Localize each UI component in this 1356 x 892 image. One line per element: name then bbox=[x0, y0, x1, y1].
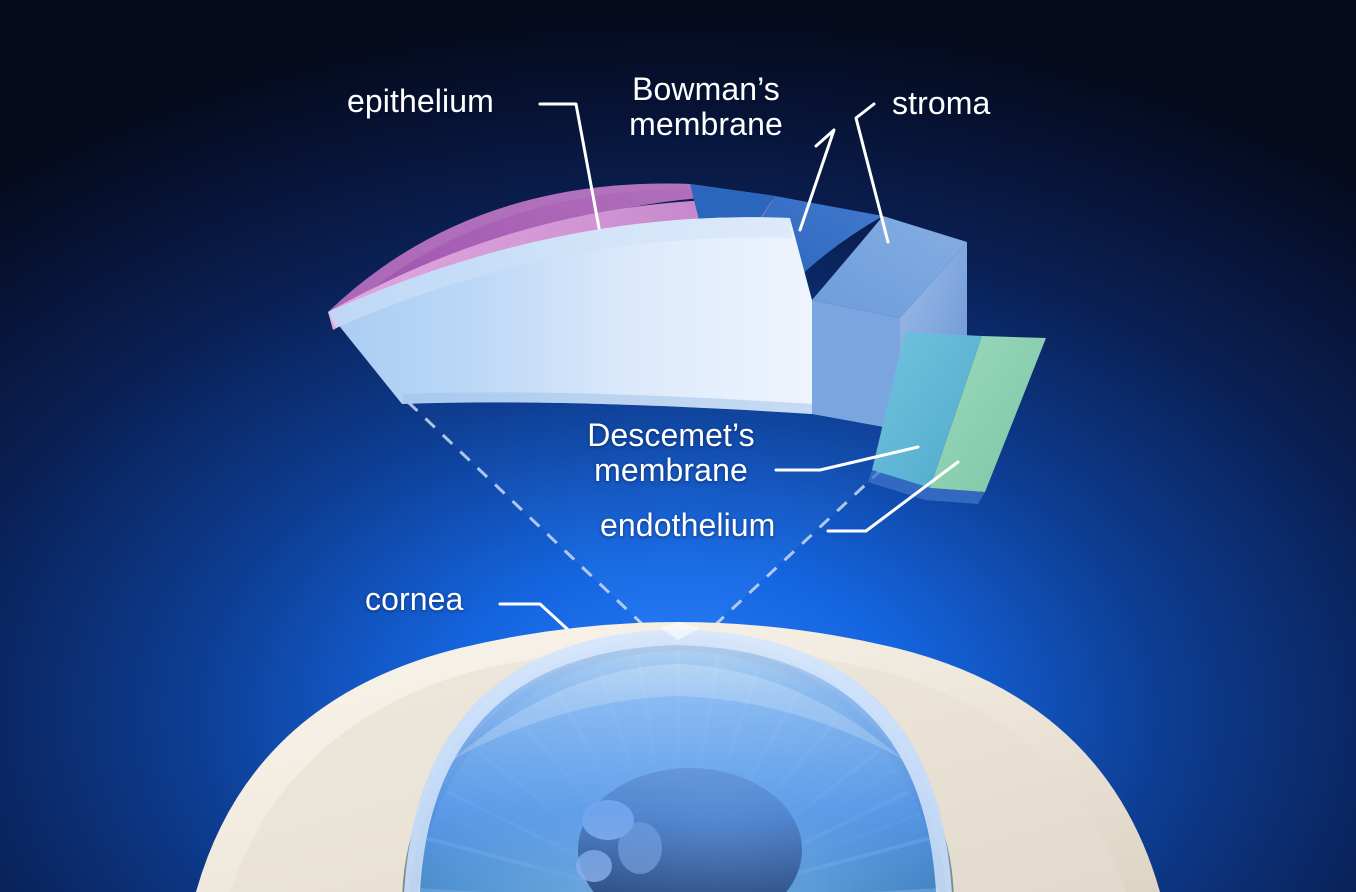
label-descemets-line2: membrane bbox=[594, 452, 748, 488]
label-descemets-membrane: Descemet’s membrane bbox=[573, 418, 769, 488]
label-descemets-line1: Descemet’s bbox=[587, 417, 755, 453]
label-endothelium: endothelium bbox=[600, 508, 775, 543]
label-bowmans-line2: membrane bbox=[629, 106, 783, 142]
label-bowmans-line1: Bowman’s bbox=[632, 71, 780, 107]
diagram-canvas: epithelium Bowman’s membrane stroma Desc… bbox=[0, 0, 1356, 892]
label-bowmans-membrane: Bowman’s membrane bbox=[606, 72, 806, 142]
label-cornea: cornea bbox=[365, 582, 463, 617]
label-stroma: stroma bbox=[892, 86, 990, 121]
label-epithelium: epithelium bbox=[347, 84, 494, 119]
